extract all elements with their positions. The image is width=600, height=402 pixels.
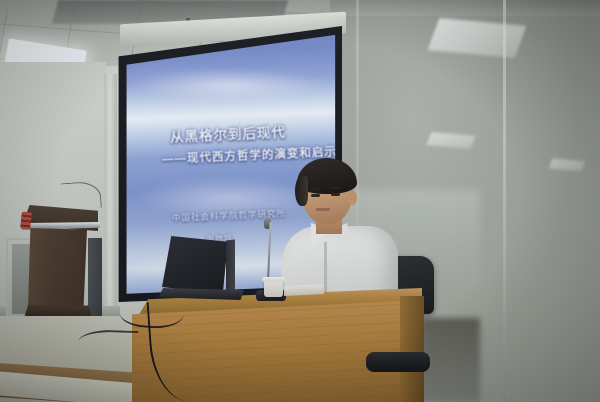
lectern-buttons[interactable] xyxy=(20,212,32,230)
eye-right xyxy=(331,193,340,196)
eyebrow-left xyxy=(310,188,321,190)
eye-left xyxy=(311,194,320,197)
desk-right-edge xyxy=(400,296,424,402)
lectern-body xyxy=(28,228,87,310)
cable-floor-secondary xyxy=(78,329,139,353)
mouth xyxy=(316,208,330,211)
hair-side xyxy=(295,176,308,206)
cup xyxy=(264,280,283,297)
cup-lid xyxy=(262,277,285,282)
photo-scene: 从黑格尔到后现代 ——现代西方哲学的演变和启示 中国社会科学院哲学研究所 谢地坤 xyxy=(0,0,600,402)
laptop-hinge xyxy=(226,239,235,292)
ear xyxy=(348,190,357,205)
chair-seat xyxy=(366,352,430,372)
laptop-screen[interactable] xyxy=(162,236,228,294)
dark-curtain-right xyxy=(88,238,102,320)
slide-title: 从黑格尔到后现代 xyxy=(170,121,287,146)
eyebrow-right xyxy=(330,187,341,189)
papers xyxy=(284,284,324,296)
